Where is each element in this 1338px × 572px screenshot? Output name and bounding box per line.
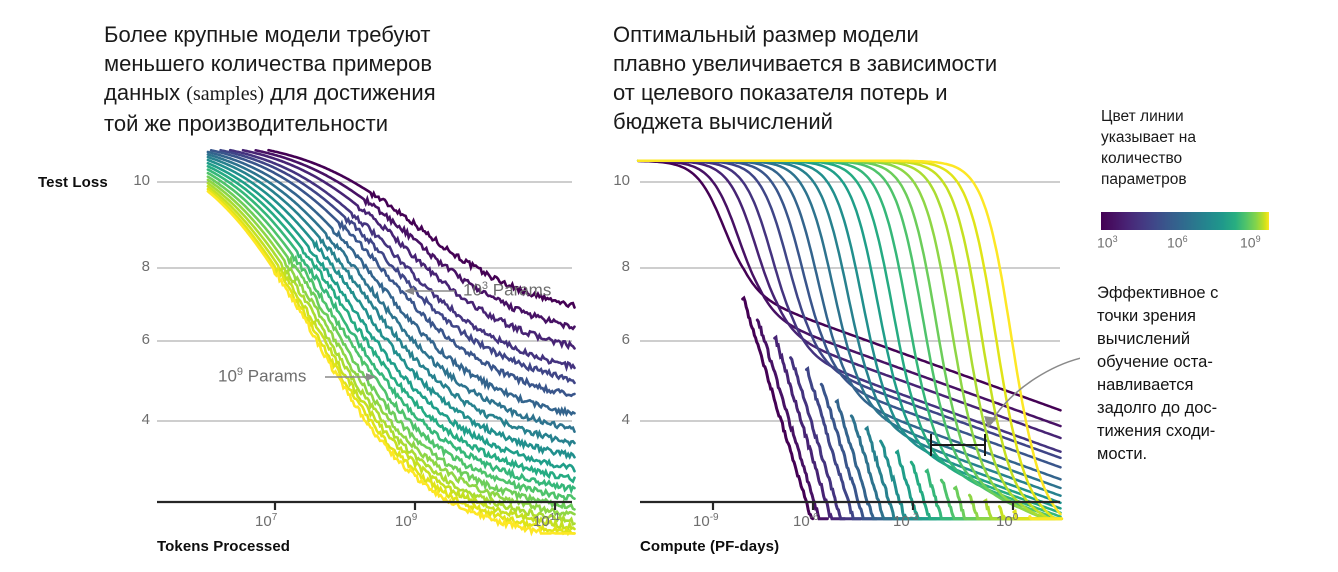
right-curve-group	[638, 161, 1061, 519]
left-curve	[208, 166, 575, 481]
left-ytick-4: 4	[122, 411, 150, 428]
left-xtick-1e11: 1011	[533, 512, 560, 530]
right-ytick-8: 8	[600, 258, 630, 275]
right-envelope	[757, 320, 827, 519]
right-xtick-1e-9: 10-9	[693, 512, 719, 530]
compute-efficient-note: Эффективное с точки зрения вычислений об…	[1097, 282, 1335, 466]
colorbar-gradient	[1101, 212, 1269, 230]
left-x-axis-label: Tokens Processed	[157, 538, 290, 555]
left-ytick-10: 10	[122, 172, 150, 189]
right-curve	[638, 161, 1060, 513]
left-xtick-1e9: 109	[395, 512, 417, 530]
right-curve	[638, 161, 1060, 503]
left-xtick-1e7: 107	[255, 512, 277, 530]
right-xtick-1e-6: 10-6	[793, 512, 819, 530]
right-xtick-1e0: 100	[996, 512, 1018, 530]
left-annotation-1e3-params: 103 Params	[463, 280, 551, 301]
right-ytick-10: 10	[600, 172, 630, 189]
right-chart	[600, 0, 1080, 572]
left-ytick-6: 6	[122, 331, 150, 348]
left-curve-group	[208, 150, 575, 533]
left-annotation-1e9-params: 109 Params	[218, 366, 306, 387]
right-ytick-4: 4	[600, 411, 630, 428]
colorbar-caption: Цвет линии указывает на количество парам…	[1101, 106, 1301, 190]
right-ytick-6: 6	[600, 331, 630, 348]
right-xtick-1e-3: 10-3	[893, 512, 919, 530]
right-x-axis-label: Compute (PF-days)	[640, 538, 779, 555]
right-curve	[638, 161, 1060, 410]
colorbar-tick-1e6: 106	[1167, 234, 1188, 251]
right-curve	[638, 161, 1060, 480]
left-y-axis-label: Test Loss	[38, 174, 108, 191]
right-chart-svg	[600, 0, 1080, 572]
left-ytick-8: 8	[122, 258, 150, 275]
colorbar-tick-1e9: 109	[1240, 234, 1261, 251]
colorbar-tick-1e3: 103	[1097, 234, 1118, 251]
